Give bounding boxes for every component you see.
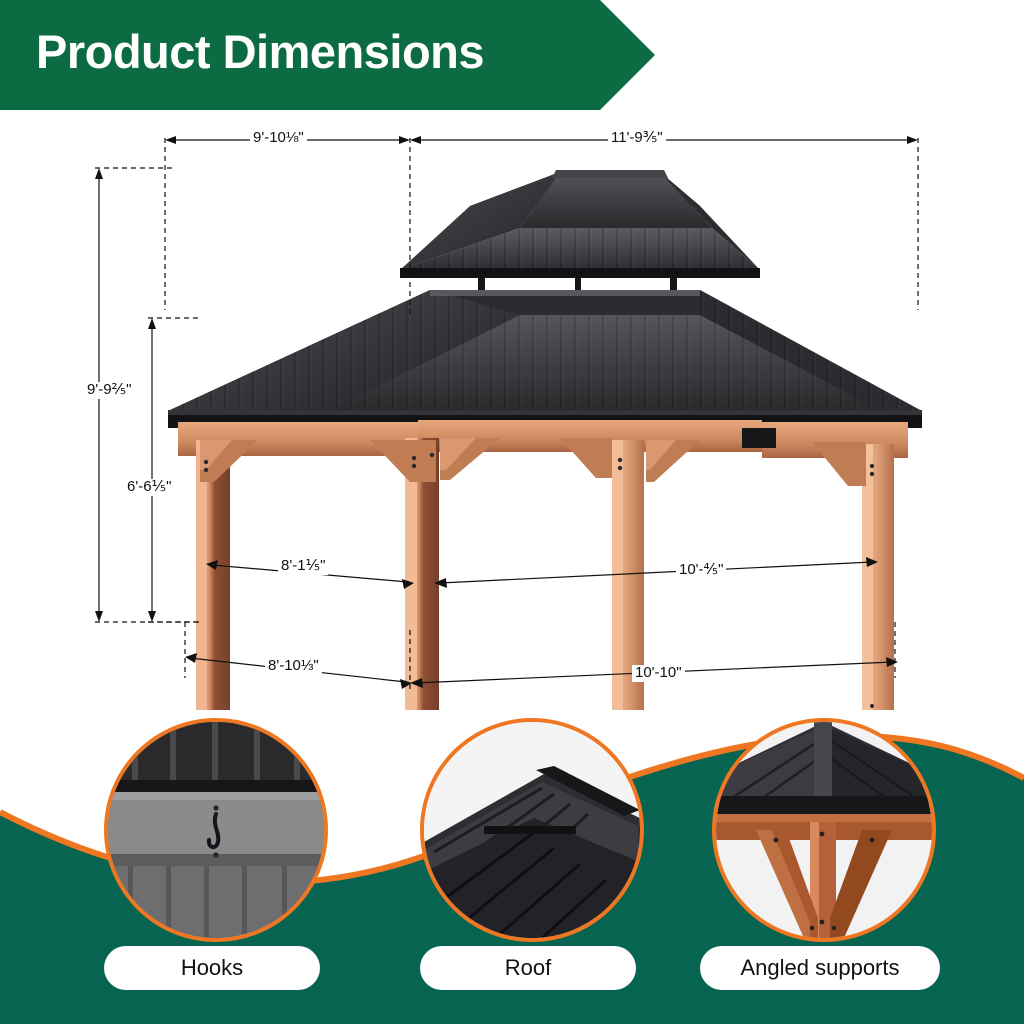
roof-detail-photo bbox=[424, 722, 640, 938]
feature-label-hooks: Hooks bbox=[104, 946, 320, 990]
feature-label-roof: Roof bbox=[420, 946, 636, 990]
feature-label-angled-supports: Angled supports bbox=[700, 946, 940, 990]
feature-label-angled-supports-text: Angled supports bbox=[741, 955, 900, 981]
feature-label-hooks-text: Hooks bbox=[181, 955, 243, 981]
dimension-label-mid-right: 10'-⅘" bbox=[676, 562, 726, 579]
feature-bubble-angled-supports[interactable] bbox=[712, 718, 936, 942]
dimension-label-bottom-left: 8'-10⅓" bbox=[265, 658, 322, 675]
header-banner: Product Dimensions bbox=[0, 0, 660, 110]
diagram-area: 9'-10⅛" 11'-9⅗" 9'-9⅖" 6'-6⅕" 8'-1⅕" 10'… bbox=[0, 110, 1024, 710]
dimension-label-top-left: 9'-10⅛" bbox=[250, 130, 307, 147]
dimension-label-bottom-right: 10'-10" bbox=[632, 665, 685, 682]
roof-main bbox=[168, 290, 922, 428]
gazebo-illustration bbox=[0, 110, 1024, 710]
feature-bubble-roof[interactable] bbox=[420, 718, 644, 942]
beam-bracket bbox=[742, 428, 776, 448]
dimension-label-mid-left: 8'-1⅕" bbox=[278, 558, 328, 575]
feature-highlights-panel: Hooks Roof Angled supports bbox=[0, 700, 1024, 1024]
product-dimensions-infographic: Product Dimensions bbox=[0, 0, 1024, 1024]
page-title: Product Dimensions bbox=[36, 24, 484, 79]
feature-label-roof-text: Roof bbox=[505, 955, 551, 981]
frame-beams bbox=[178, 420, 908, 458]
dimension-label-top-right: 11'-9⅗" bbox=[608, 130, 666, 147]
roof-cupola bbox=[400, 170, 760, 278]
angled-support-detail-photo bbox=[716, 722, 932, 938]
feature-bubble-hooks[interactable] bbox=[104, 718, 328, 942]
dimension-label-left-outer: 9'-9⅖" bbox=[84, 382, 134, 399]
dimension-label-left-inner: 6'-6⅕" bbox=[124, 479, 174, 496]
hook-detail-photo bbox=[108, 722, 324, 938]
